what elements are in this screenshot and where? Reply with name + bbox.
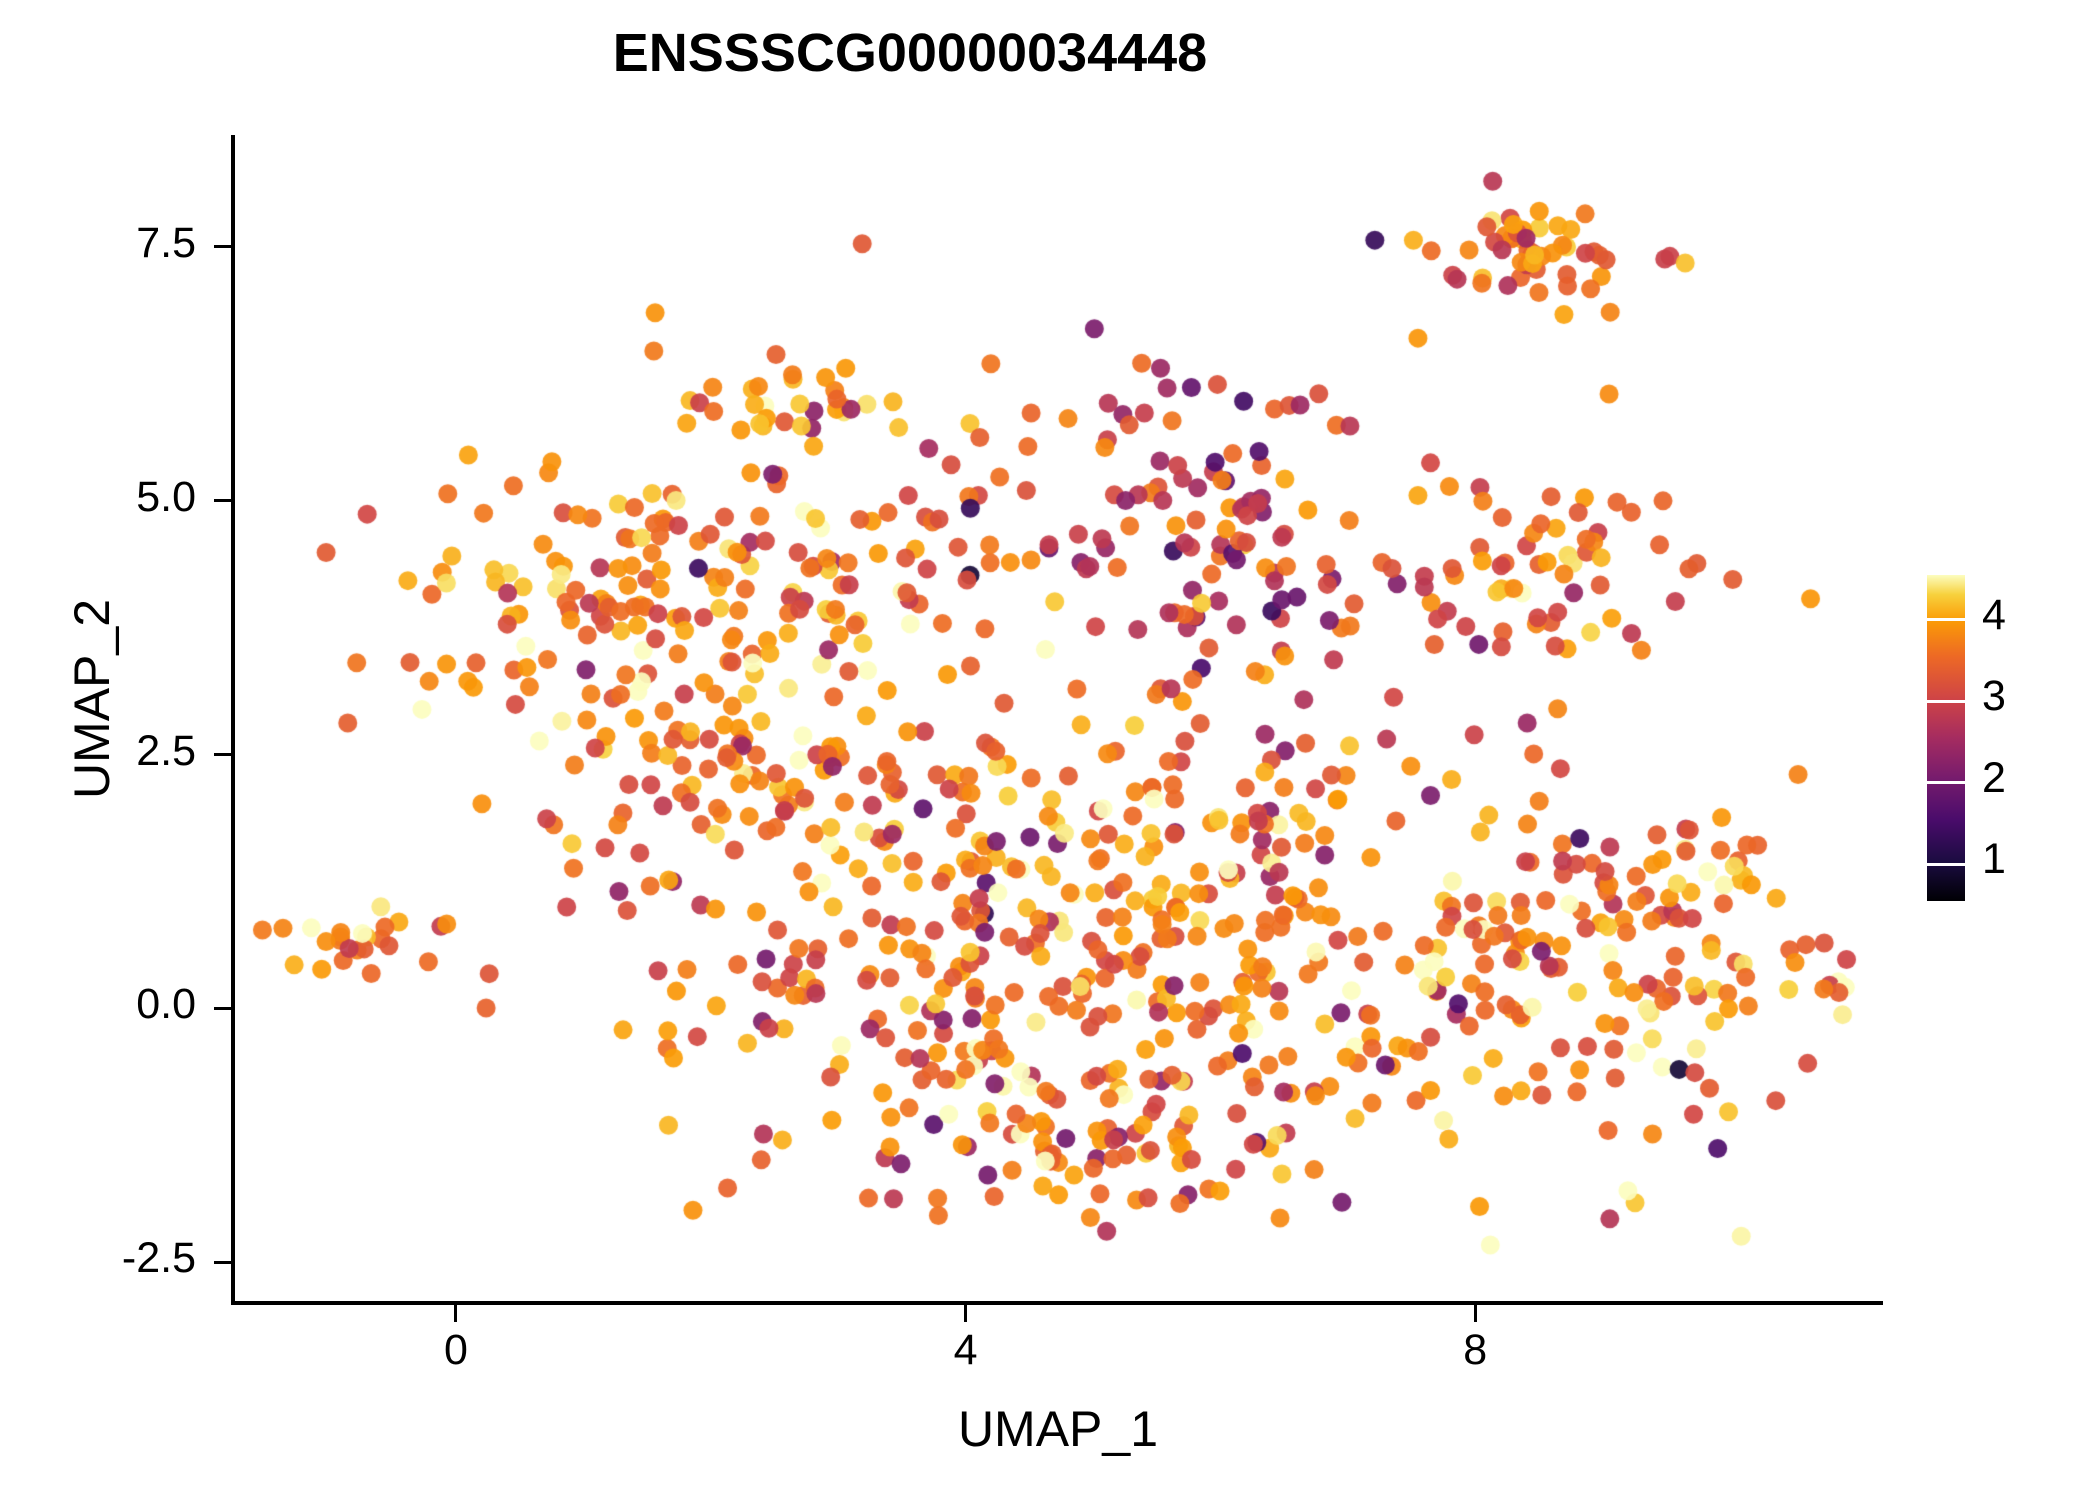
y-axis-title: UMAP_2 (63, 299, 121, 1099)
x-axis-line (231, 1301, 1883, 1305)
y-axis-ticklabel-neg-2-5: -2.5 (0, 1234, 196, 1283)
colorbar-tick-4 (1927, 618, 1965, 621)
x-axis-tick-0 (454, 1305, 457, 1322)
x-axis-ticklabel-0: 0 (376, 1326, 536, 1375)
colorbar-label-2: 2 (1982, 757, 2006, 800)
y-axis-tick-7-5 (214, 245, 231, 248)
plot-panel (233, 135, 1883, 1303)
colorbar-gradient (1927, 575, 1965, 901)
colorbar-tick-2 (1927, 781, 1965, 784)
umap-feature-plot: ENSSSCG00000034448 7.5 5.0 2.5 0.0 -2.5 … (0, 0, 2100, 1500)
colorbar-label-3: 3 (1982, 675, 2006, 718)
colorbar-tick-1 (1927, 863, 1965, 866)
x-axis-ticklabel-4: 4 (886, 1326, 1046, 1375)
colorbar-label-1: 1 (1982, 838, 2006, 881)
colorbar-label-4: 4 (1982, 594, 2006, 637)
y-axis-tick-0-0 (214, 1007, 231, 1010)
x-axis-title: UMAP_1 (233, 1400, 1883, 1458)
colorbar-tick-3 (1927, 700, 1965, 703)
y-axis-ticklabel-7-5: 7.5 (0, 219, 196, 268)
y-axis-tick-neg-2-5 (214, 1261, 231, 1264)
x-axis-tick-8 (1474, 1305, 1477, 1322)
x-axis-ticklabel-8: 8 (1395, 1326, 1555, 1375)
colorbar-legend: 4 3 2 1 (1920, 575, 2090, 905)
x-axis-tick-4 (964, 1305, 967, 1322)
scatter-points-layer (233, 135, 1883, 1303)
y-axis-line (231, 135, 235, 1305)
y-axis-tick-5-0 (214, 499, 231, 502)
page-title: ENSSSCG00000034448 (0, 22, 1820, 84)
y-axis-tick-2-5 (214, 753, 231, 756)
